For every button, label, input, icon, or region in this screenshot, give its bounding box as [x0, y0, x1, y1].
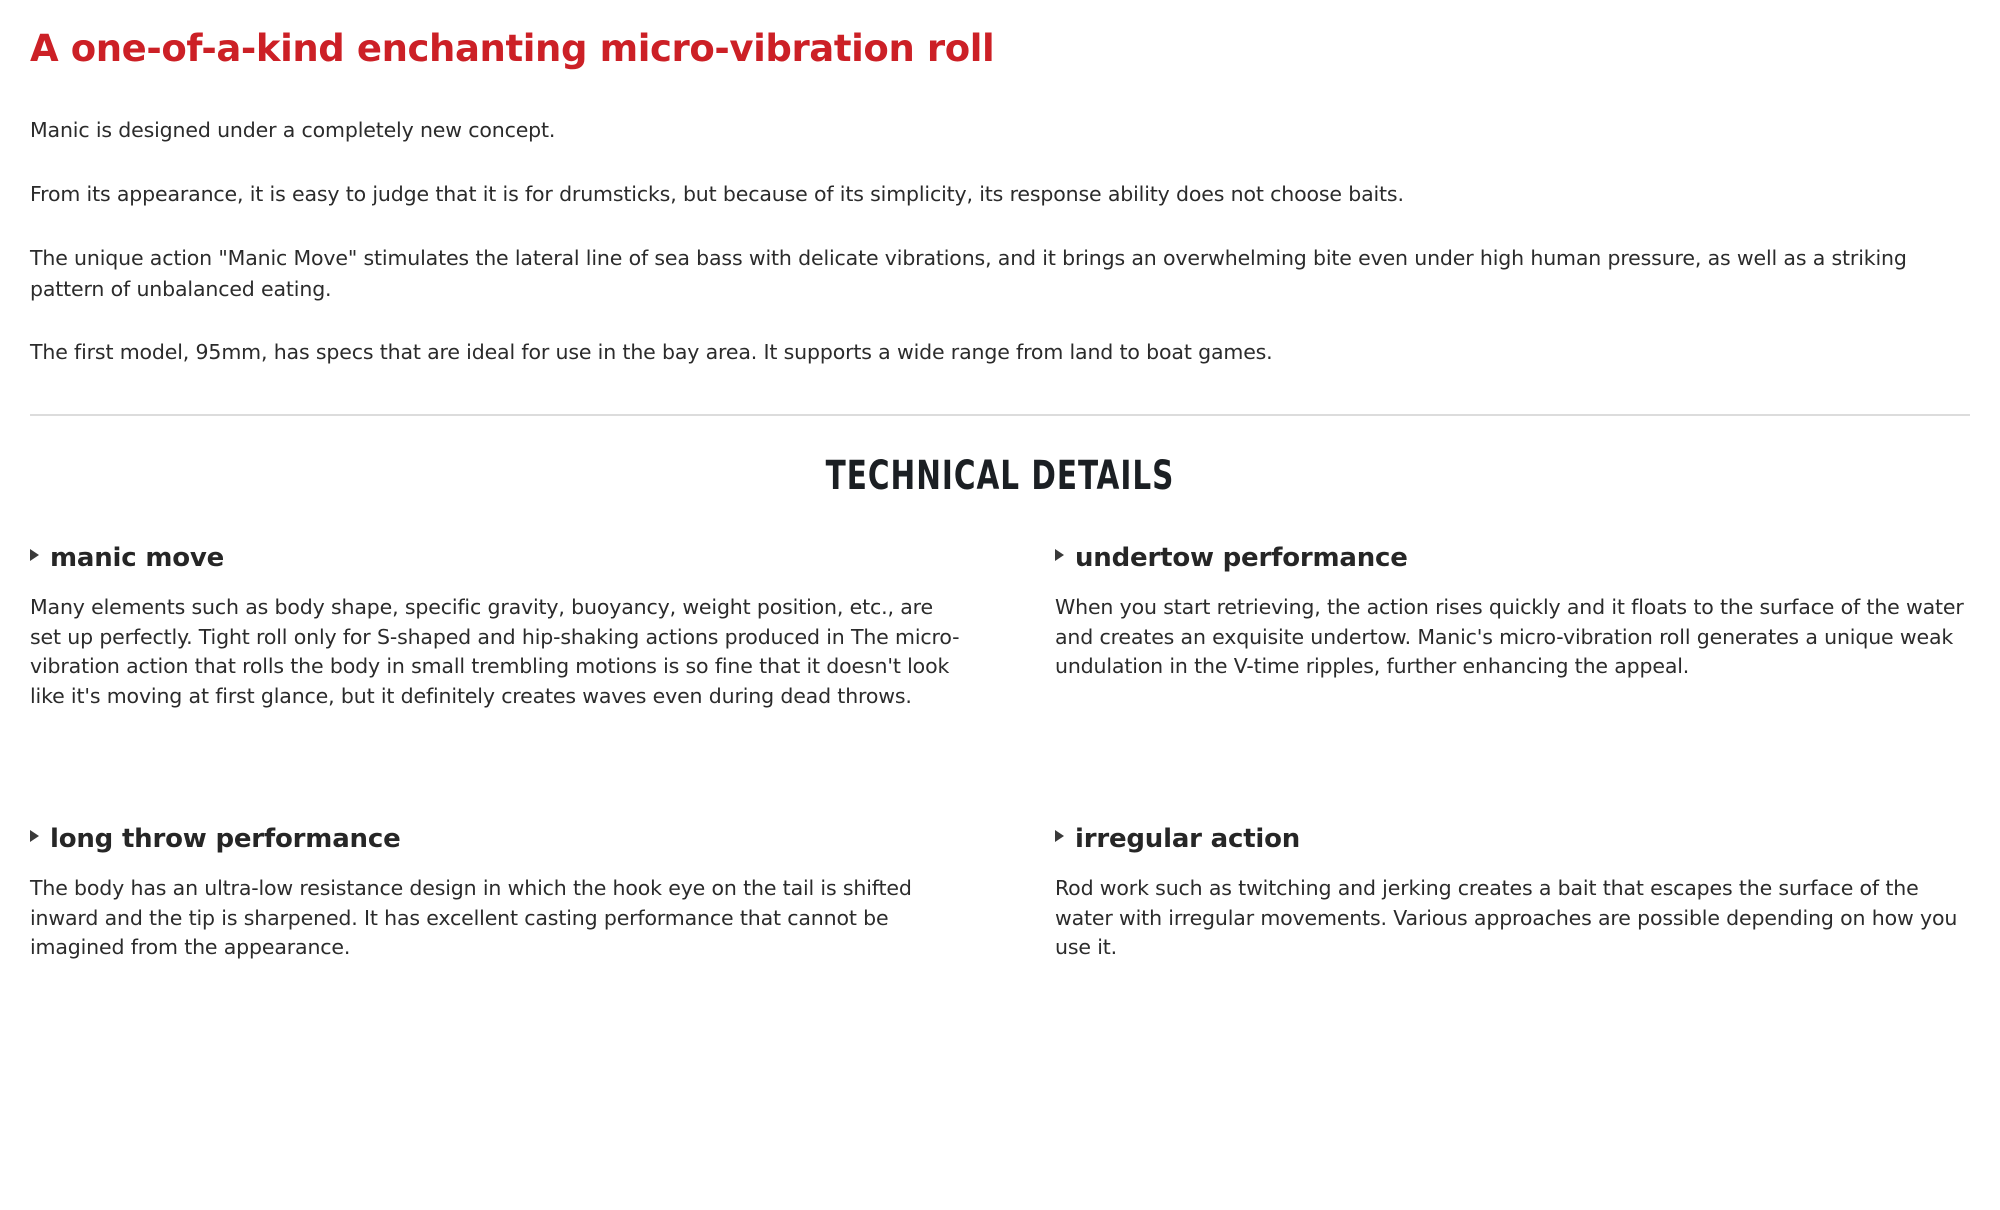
detail-title: irregular action [1075, 824, 1300, 855]
detail-title: undertow performance [1075, 543, 1408, 574]
intro-paragraph-4: The first model, 95mm, has specs that ar… [30, 337, 1970, 368]
page-title: A one-of-a-kind enchanting micro-vibrati… [30, 18, 1970, 72]
detail-card-manic-move: manic move Many elements such as body sh… [30, 543, 970, 824]
detail-title: manic move [50, 543, 224, 574]
technical-details-grid: manic move Many elements such as body sh… [30, 543, 1970, 1105]
detail-title-row: manic move [30, 543, 970, 574]
detail-card-long-throw-performance: long throw performance The body has an u… [30, 824, 970, 1105]
intro-paragraph-3: The unique action "Manic Move" stimulate… [30, 243, 1970, 305]
triangle-right-icon [1055, 549, 1064, 561]
detail-title-row: undertow performance [1055, 543, 1970, 574]
intro-paragraph-1: Manic is designed under a completely new… [30, 115, 1970, 146]
detail-card-undertow-performance: undertow performance When you start retr… [1030, 543, 1970, 824]
triangle-right-icon [30, 549, 39, 561]
triangle-right-icon [30, 830, 39, 842]
technical-details-heading: TECHNICAL DETAILS [205, 416, 1796, 499]
detail-body: Many elements such as body shape, specif… [30, 574, 970, 711]
detail-body: When you start retrieving, the action ri… [1055, 574, 1970, 682]
detail-title-row: long throw performance [30, 824, 970, 855]
detail-title-row: irregular action [1055, 824, 1970, 855]
detail-body: The body has an ultra-low resistance des… [30, 855, 970, 963]
intro-paragraph-2: From its appearance, it is easy to judge… [30, 179, 1970, 210]
product-description-page: A one-of-a-kind enchanting micro-vibrati… [0, 0, 2000, 1210]
detail-title: long throw performance [50, 824, 401, 855]
triangle-right-icon [1055, 830, 1064, 842]
intro-section: A one-of-a-kind enchanting micro-vibrati… [30, 0, 1970, 368]
detail-body: Rod work such as twitching and jerking c… [1055, 855, 1970, 963]
detail-card-irregular-action: irregular action Rod work such as twitch… [1030, 824, 1970, 1105]
